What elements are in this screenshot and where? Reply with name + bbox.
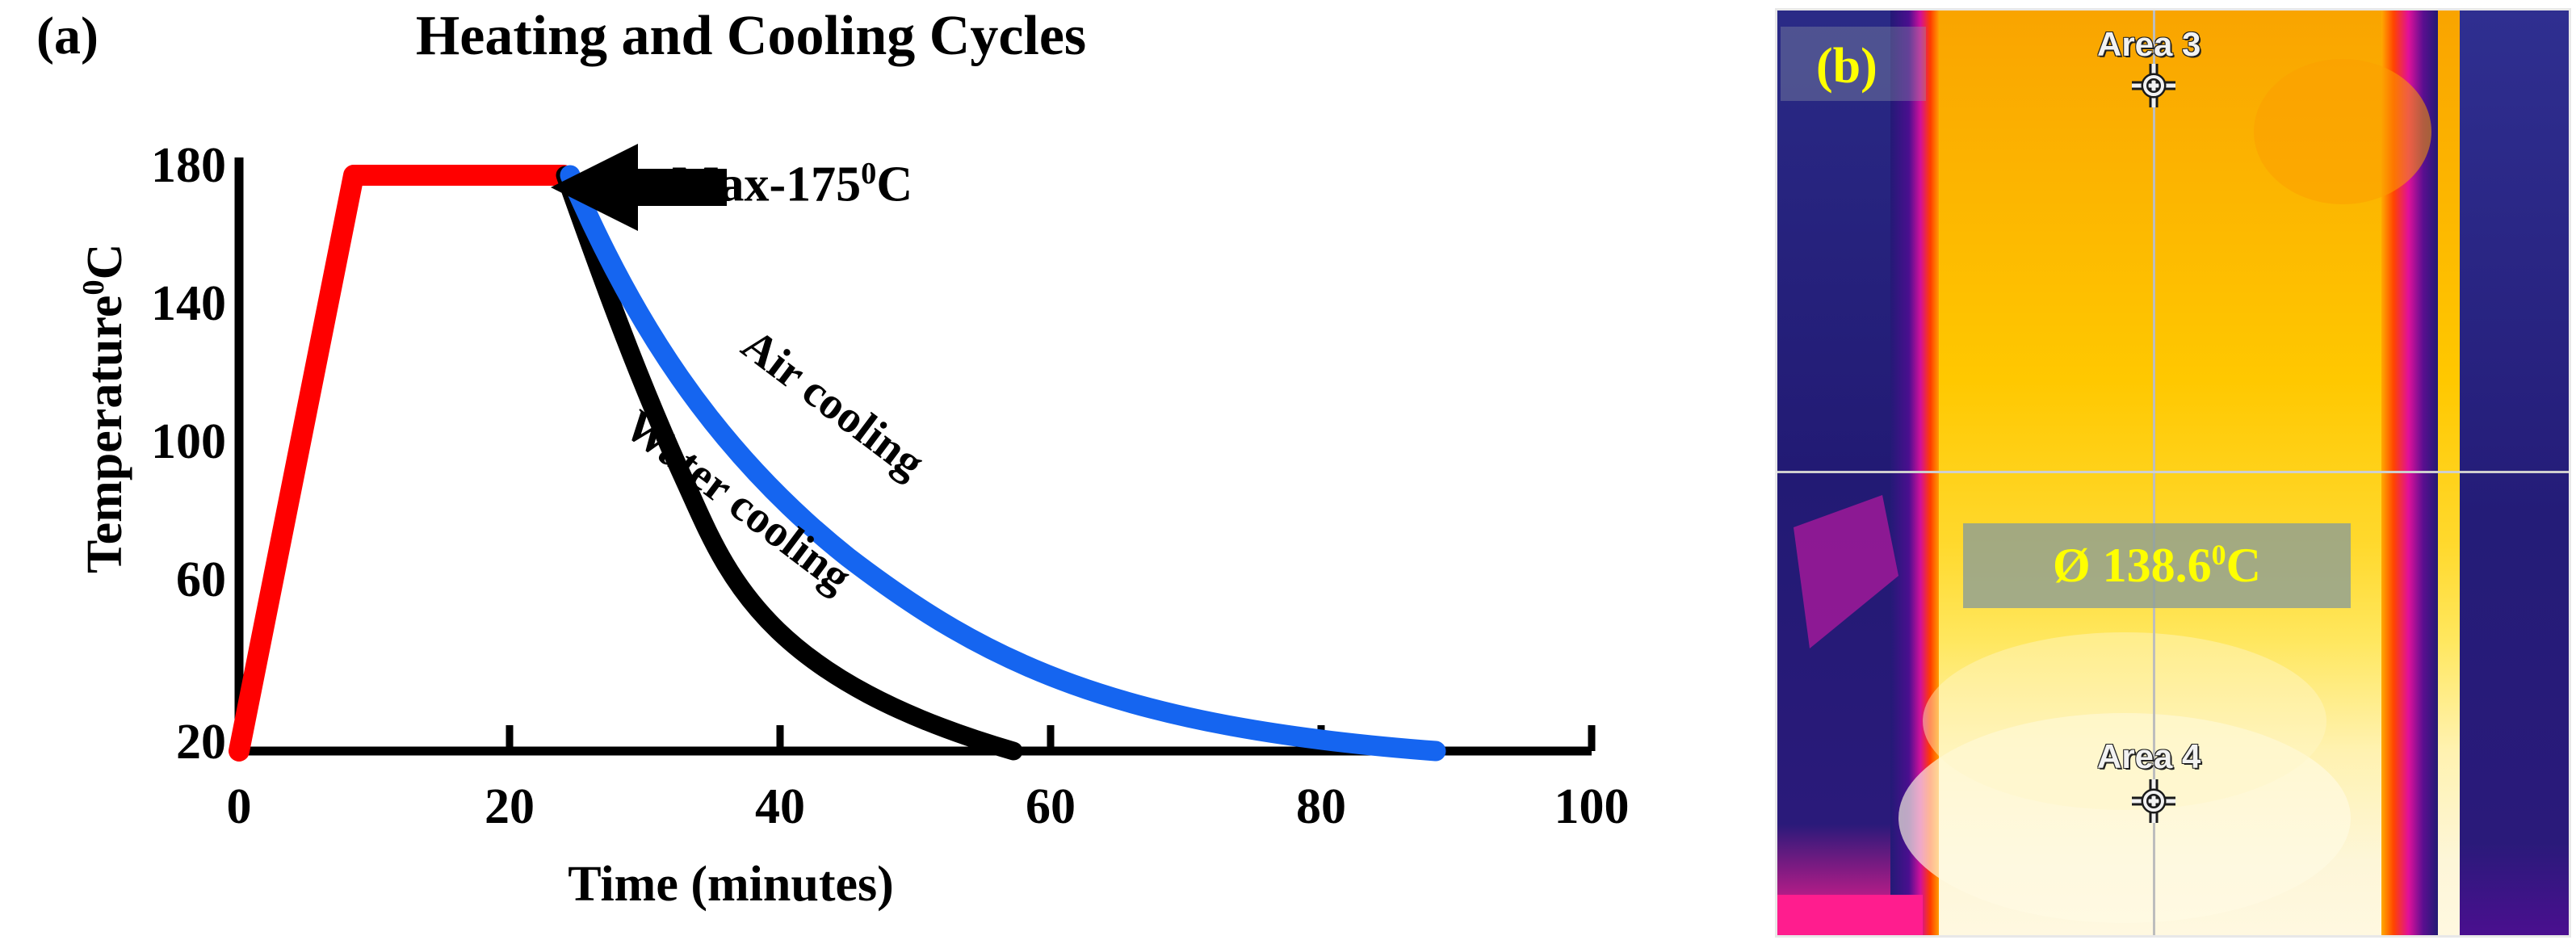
max-annotation-unit: C: [876, 157, 913, 212]
area-4-label: Area 4: [2097, 737, 2201, 776]
mean-temperature-unit: C: [2226, 539, 2261, 592]
crosshair-icon-area-4: [2129, 776, 2179, 826]
mean-temperature-sup: 0: [2212, 539, 2226, 571]
max-temperature-annotation: Max-1750C: [672, 156, 913, 214]
plot-area: [0, 0, 1712, 940]
figure-root: (a) Heating and Cooling Cycles Temperatu…: [0, 0, 2576, 940]
heating-curve: [239, 175, 564, 751]
mean-temperature-value: Ø 138.60C: [1963, 534, 2351, 597]
water-cooling-curve: [565, 175, 1013, 751]
panel-a-chart: (a) Heating and Cooling Cycles Temperatu…: [0, 0, 1712, 940]
crosshair-horizontal-line: [1777, 471, 2569, 473]
panel-b-thermal-image: (b) Area 3 Ø 138.60C Area 4: [1775, 8, 2571, 938]
crosshair-icon-area-3: [2129, 61, 2179, 111]
max-annotation-sup: 0: [861, 157, 876, 191]
max-annotation-text: Max-175: [672, 157, 861, 212]
area-3-label: Area 3: [2097, 25, 2201, 64]
mean-temperature-number: Ø 138.6: [2053, 539, 2212, 592]
panel-b-label: (b): [1816, 41, 1877, 91]
